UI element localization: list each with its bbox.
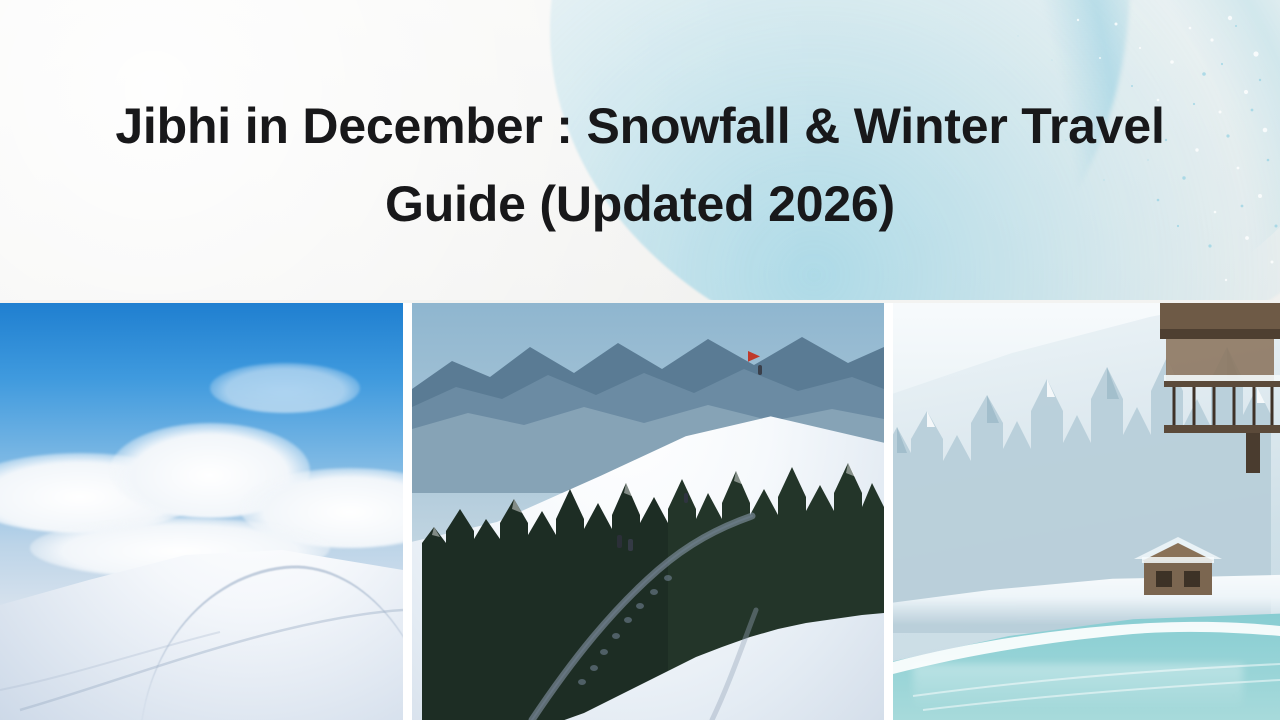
hiker-figure: [628, 539, 633, 551]
hiker-figure: [617, 535, 622, 548]
hiker-figure: [758, 365, 762, 375]
photo-snowy-ridge-trek: [412, 303, 884, 720]
banner-header: Jibhi in December : Snowfall & Winter Tr…: [0, 0, 1280, 300]
hiker-figure: [684, 493, 688, 503]
footpath-tracks: [412, 420, 884, 720]
wooden-cabin: [1134, 537, 1222, 595]
photo-frosted-forest-pool: [893, 303, 1280, 720]
page-title: Jibhi in December : Snowfall & Winter Tr…: [0, 88, 1280, 243]
cabin-balcony: [1160, 303, 1280, 473]
banner-image: Jibhi in December : Snowfall & Winter Tr…: [0, 0, 1280, 720]
title-container: Jibhi in December : Snowfall & Winter Tr…: [0, 88, 1280, 243]
photo-snow-slope-blue-sky: [0, 303, 403, 720]
pool-edge-snow: [893, 600, 1280, 720]
cloud: [210, 363, 360, 413]
photo-strip: [0, 303, 1280, 720]
snow-contour-lines: [0, 540, 403, 720]
